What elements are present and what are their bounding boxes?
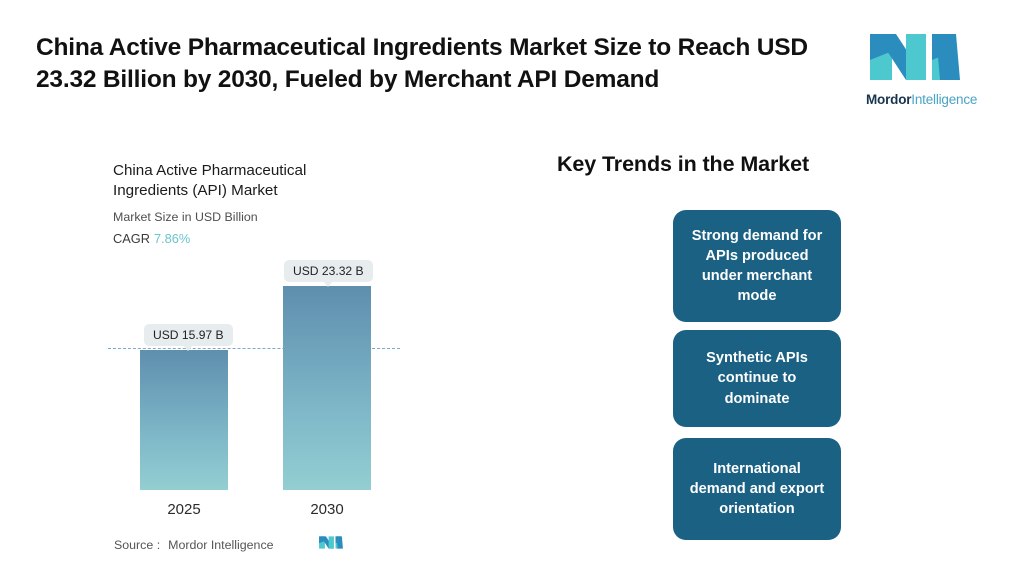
- trend-card-3: International demand and export orientat…: [673, 438, 841, 540]
- trend-card-2-text: Synthetic APIs continue to dominate: [685, 348, 829, 408]
- brand-logo: MordorIntelligence: [866, 30, 976, 112]
- page-title: China Active Pharmaceutical Ingredients …: [36, 32, 846, 97]
- trend-card-2: Synthetic APIs continue to dominate: [673, 330, 841, 427]
- mordor-intelligence-logo-mark: [866, 30, 976, 89]
- brand-wordmark: MordorIntelligence: [866, 92, 976, 107]
- trend-card-3-text: International demand and export orientat…: [685, 459, 829, 519]
- value-label-2030: USD 23.32 B: [284, 260, 373, 282]
- source-prefix: Source :: [114, 538, 160, 552]
- source-row: Source : Mordor Intelligence: [114, 535, 344, 555]
- infographic-page: China Active Pharmaceutical Ingredients …: [0, 0, 1018, 582]
- source-name: Mordor Intelligence: [168, 538, 273, 552]
- x-axis-label-2025: 2025: [140, 501, 228, 518]
- value-label-2025: USD 15.97 B: [144, 324, 233, 346]
- x-axis-label-2030: 2030: [283, 501, 371, 518]
- brand-primary: Mordor: [866, 92, 911, 107]
- trend-card-1: Strong demand for APIs produced under me…: [673, 210, 841, 322]
- trend-card-1-text: Strong demand for APIs produced under me…: [685, 226, 829, 307]
- bar-chart-plot: USD 15.97 B USD 23.32 B 2025 2030: [0, 140, 500, 560]
- bar-2030: [283, 286, 371, 490]
- chart-panel: China Active Pharmaceutical Ingredients …: [0, 140, 500, 560]
- bar-2025: [140, 350, 228, 490]
- brand-secondary: Intelligence: [911, 92, 977, 107]
- trends-heading: Key Trends in the Market: [528, 152, 838, 177]
- source-logo-mark: [318, 535, 344, 555]
